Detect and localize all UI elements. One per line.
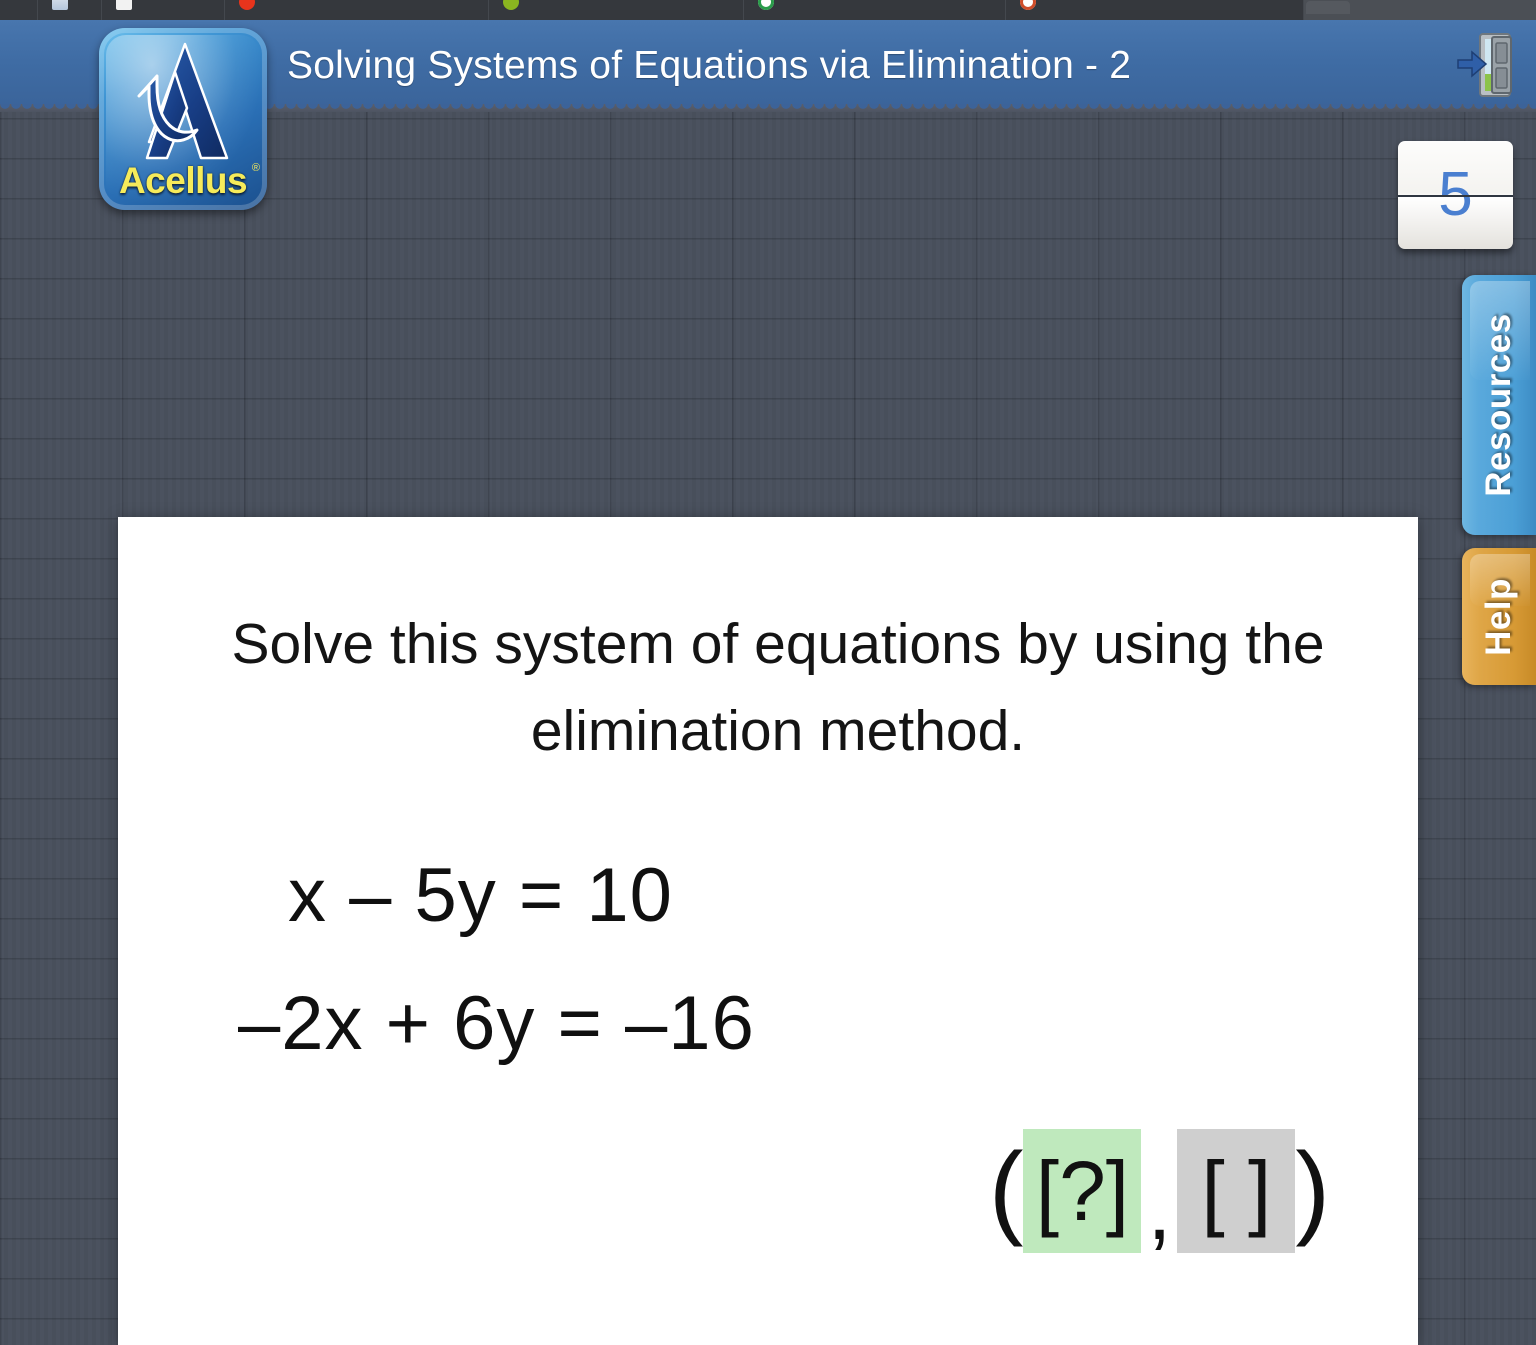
sidebar-item-label: Resources xyxy=(1479,313,1519,496)
green-check-circle-icon xyxy=(758,0,774,10)
browser-tab-active[interactable] xyxy=(1006,0,1304,20)
green-circle-icon xyxy=(503,0,519,10)
answer-input-x[interactable]: [?] xyxy=(1023,1129,1141,1253)
browser-tab[interactable] xyxy=(225,0,489,20)
lesson-content-panel: Solve this system of equations by using … xyxy=(118,517,1418,1345)
browser-tab[interactable] xyxy=(0,0,38,20)
browser-tab-strip xyxy=(0,0,1536,22)
score-flip-counter: 5 xyxy=(1398,141,1513,249)
new-tab-button[interactable] xyxy=(1306,1,1350,14)
browser-tab[interactable] xyxy=(744,0,1006,20)
answer-input-y[interactable]: [ ] xyxy=(1177,1129,1295,1253)
equation-line-2: –2x + 6y = –16 xyxy=(238,960,755,1088)
document-blue-icon xyxy=(52,0,68,10)
close-paren: ) xyxy=(1295,1144,1330,1238)
acellus-a-arrow-icon xyxy=(115,38,251,166)
red-circle-icon xyxy=(239,0,255,10)
acellus-lesson-screen: Solving Systems of Equations via Elimina… xyxy=(0,0,1536,1345)
red-ring-icon xyxy=(1020,0,1036,10)
open-paren: ( xyxy=(989,1144,1024,1238)
acellus-trademark: ® xyxy=(252,162,260,174)
acellus-logo[interactable]: Acellus ® xyxy=(99,28,267,210)
exit-door-icon[interactable] xyxy=(1454,28,1516,102)
equation-line-1: x – 5y = 10 xyxy=(238,832,755,960)
browser-tab[interactable] xyxy=(38,0,102,20)
answer-entry-row: ( [?] , [ ] ) xyxy=(989,1129,1330,1253)
sidebar-item-help[interactable]: Help xyxy=(1462,548,1536,685)
page-title: Solving Systems of Equations via Elimina… xyxy=(287,44,1131,88)
acellus-wordmark: Acellus xyxy=(99,160,267,202)
sidebar-item-label: Help xyxy=(1479,578,1519,656)
score-value: 5 xyxy=(1398,164,1513,226)
document-white-icon xyxy=(116,0,132,10)
sidebar-item-resources[interactable]: Resources xyxy=(1462,275,1536,535)
answer-comma: , xyxy=(1141,1167,1177,1253)
lesson-prompt: Solve this system of equations by using … xyxy=(178,601,1378,774)
equation-system: x – 5y = 10 –2x + 6y = –16 xyxy=(238,832,755,1087)
browser-tab[interactable] xyxy=(102,0,225,20)
browser-tab[interactable] xyxy=(489,0,744,20)
